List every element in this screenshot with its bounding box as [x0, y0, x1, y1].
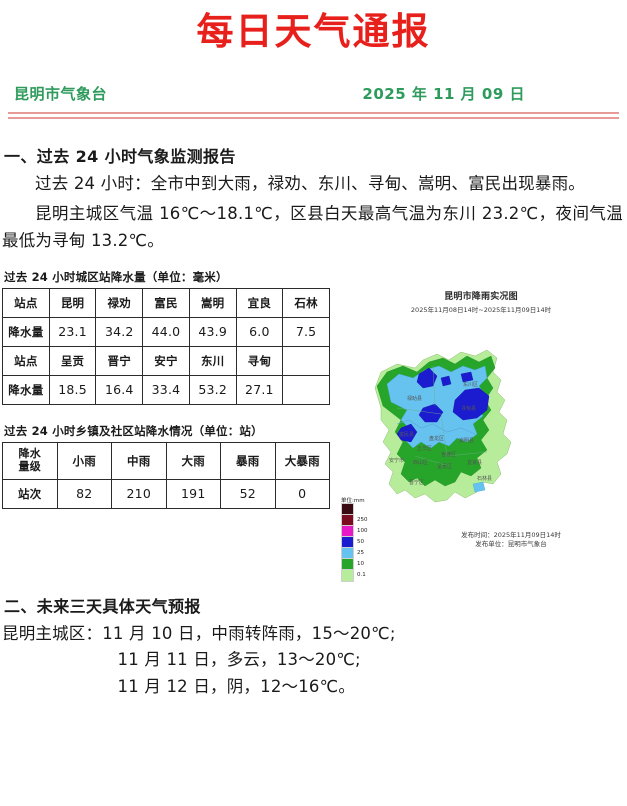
legend-value: 10: [357, 561, 364, 567]
map-label-dongchuan: 东川区: [463, 381, 478, 388]
table-row: 站点 昆明 禄劝 富民 嵩明 宜良 石林: [3, 288, 330, 317]
row-header-station: 站点: [3, 288, 50, 317]
station-count-value: 191: [166, 479, 221, 508]
map-region-deepblue-small-b: [461, 372, 473, 382]
map-label-yiliang: 宜良县: [467, 459, 482, 466]
table-row: 降水量 23.1 34.2 44.0 43.9 6.0 7.5: [3, 317, 330, 346]
row-header-station-count: 站次: [3, 479, 58, 508]
tables-column: 过去 24 小时城区站降水量（单位：毫米） 站点 昆明 禄劝 富民 嵩明 宜良 …: [2, 269, 334, 509]
station-name: 富民: [143, 288, 190, 317]
rainfall-map-panel: 昆明市降雨实况图 2025年11月08日14时~2025年11月09日14时: [337, 269, 625, 569]
forecast-line-day1: 昆明主城区：11 月 10 日，中雨转阵雨，15～20℃;: [2, 621, 627, 648]
map-title: 昆明市降雨实况图: [337, 289, 625, 302]
table-row: 站次 82 210 191 52 0: [3, 479, 330, 508]
map-publish-unit: 发布单位：昆明市气象台: [397, 540, 625, 550]
legend-value: 100: [357, 528, 368, 534]
station-name: 寻甸: [236, 346, 283, 375]
station-name: 晋宁: [96, 346, 143, 375]
legend-value: 0.1: [357, 572, 366, 578]
precipitation-value: 27.1: [236, 375, 283, 404]
grade-name: 暴雨: [221, 442, 276, 479]
station-count-value: 52: [221, 479, 276, 508]
precipitation-value: 16.4: [96, 375, 143, 404]
map-region-deepblue-small-a: [441, 376, 451, 386]
corner-label-line1: 降水: [19, 447, 41, 460]
map-label-chenggong: 呈贡区: [437, 464, 452, 470]
forecast-line-day2: 11 月 11 日，多云，13～20℃;: [2, 647, 627, 674]
kunming-rainfall-map-svg: 禄劝县 东川区 寻甸县 富民县 嵩明县 盘龙区 五华区 官渡区 西山区 安宁市 …: [337, 316, 625, 531]
precipitation-value: 43.9: [189, 317, 236, 346]
grade-name: 小雨: [57, 442, 112, 479]
precipitation-value: 33.4: [143, 375, 190, 404]
map-label-xundian: 寻甸县: [461, 405, 476, 412]
grade-name: 大雨: [166, 442, 221, 479]
township-precipitation-table: 降水 量级 小雨 中雨 大雨 暴雨 大暴雨 站次 82 210 191 52 0: [2, 442, 330, 509]
station-name: 嵩明: [189, 288, 236, 317]
meta-row: 昆明市气象台 2025 年 11 月 09 日: [0, 83, 627, 104]
station-count-value: 0: [275, 479, 330, 508]
forecast-day-2: 11 月 11 日，多云，13～20℃;: [118, 650, 361, 669]
map-footer: 发布时间：2025年11月09日14时 发布单位：昆明市气象台: [337, 531, 625, 551]
table-row: 站点 呈贡 晋宁 安宁 东川 寻甸: [3, 346, 330, 375]
map-legend: 单位:mm 250 100 50: [341, 496, 375, 581]
station-name: 东川: [189, 346, 236, 375]
map-label-fumin: 富民县: [399, 431, 414, 438]
masthead: 每日天气通报: [0, 0, 627, 53]
precipitation-value: 23.1: [49, 317, 96, 346]
divider-line-bottom: [8, 117, 619, 119]
station-name: 安宁: [143, 346, 190, 375]
data-zone: 过去 24 小时城区站降水量（单位：毫米） 站点 昆明 禄劝 富民 嵩明 宜良 …: [0, 269, 627, 579]
map-label-panlong: 盘龙区: [429, 435, 444, 442]
table-spacer: [2, 405, 334, 423]
grade-name: 大暴雨: [275, 442, 330, 479]
issue-date: 2025 年 11 月 09 日: [362, 83, 525, 104]
station-name: 昆明: [49, 288, 96, 317]
forecast-day-3: 11 月 12 日，阴，12～16℃。: [118, 677, 356, 696]
precipitation-value: 7.5: [283, 317, 330, 346]
map-label-guandu: 官渡区: [441, 451, 456, 458]
station-name: 呈贡: [49, 346, 96, 375]
corner-label-line2: 量级: [19, 460, 41, 473]
precipitation-value: 6.0: [236, 317, 283, 346]
section-one-paragraph-1: 过去 24 小时：全市中到大雨，禄劝、东川、寻甸、嵩明、富民出现暴雨。: [2, 171, 623, 198]
station-name: 石林: [283, 288, 330, 317]
map-label-anning: 安宁市: [389, 457, 404, 464]
corner-header-grade: 降水 量级: [3, 442, 58, 479]
issuing-office: 昆明市气象台: [14, 83, 107, 104]
legend-row: 0.1: [341, 570, 375, 581]
header-divider: [8, 112, 619, 121]
map-label-xishan: 西山区: [413, 459, 428, 466]
station-name: 宜良: [236, 288, 283, 317]
map-publish-time: 发布时间：2025年11月09日14时: [397, 531, 625, 541]
map-region-lightblue-south: [473, 482, 485, 492]
divider-line-top: [8, 112, 619, 114]
map-label-luquan: 禄劝县: [407, 395, 422, 402]
legend-swatch: [341, 569, 354, 582]
legend-value: 25: [357, 550, 364, 556]
legend-value: 50: [357, 539, 364, 545]
map-canvas: 禄劝县 东川区 寻甸县 富民县 嵩明县 盘龙区 五华区 官渡区 西山区 安宁市 …: [337, 316, 625, 531]
table-row: 降水量 18.5 16.4 33.4 53.2 27.1: [3, 375, 330, 404]
table-row: 降水 量级 小雨 中雨 大雨 暴雨 大暴雨: [3, 442, 330, 479]
section-one-paragraph-2: 昆明主城区气温 16℃～18.1℃，区县白天最高气温为东川 23.2℃，夜间气温…: [2, 201, 623, 254]
section-one-heading: 一、过去 24 小时气象监测报告: [4, 143, 627, 167]
legend-value: 250: [357, 517, 368, 523]
forecast-day-1: 11 月 10 日，中雨转阵雨，15～20℃;: [102, 624, 395, 643]
urban-table-caption: 过去 24 小时城区站降水量（单位：毫米）: [4, 269, 334, 285]
empty-cell: [283, 346, 330, 375]
precipitation-value: 18.5: [49, 375, 96, 404]
forecast-line-day3: 11 月 12 日，阴，12～16℃。: [2, 674, 627, 701]
row-header-precipitation: 降水量: [3, 317, 50, 346]
precipitation-value: 53.2: [189, 375, 236, 404]
page-title: 每日天气通报: [0, 10, 627, 53]
grade-name: 中雨: [112, 442, 167, 479]
township-table-caption: 过去 24 小时乡镇及社区站降水情况（单位：站）: [4, 423, 334, 439]
map-label-wuhua: 五华区: [417, 445, 432, 452]
map-subtitle: 2025年11月08日14时~2025年11月09日14时: [337, 304, 625, 314]
station-count-value: 82: [57, 479, 112, 508]
row-header-precipitation: 降水量: [3, 375, 50, 404]
precipitation-value: 34.2: [96, 317, 143, 346]
map-label-jinning: 晋宁区: [409, 479, 424, 486]
empty-cell: [283, 375, 330, 404]
station-count-value: 210: [112, 479, 167, 508]
section-two-heading: 二、未来三天具体天气预报: [4, 593, 627, 617]
station-name: 禄劝: [96, 288, 143, 317]
forecast-lead-label: 昆明主城区：: [2, 624, 102, 643]
row-header-station: 站点: [3, 346, 50, 375]
precipitation-value: 44.0: [143, 317, 190, 346]
urban-precipitation-table: 站点 昆明 禄劝 富民 嵩明 宜良 石林 降水量 23.1 34.2 44.0 …: [2, 288, 330, 405]
map-label-shilin: 石林县: [477, 475, 492, 482]
map-label-songming: 嵩明县: [459, 438, 474, 444]
